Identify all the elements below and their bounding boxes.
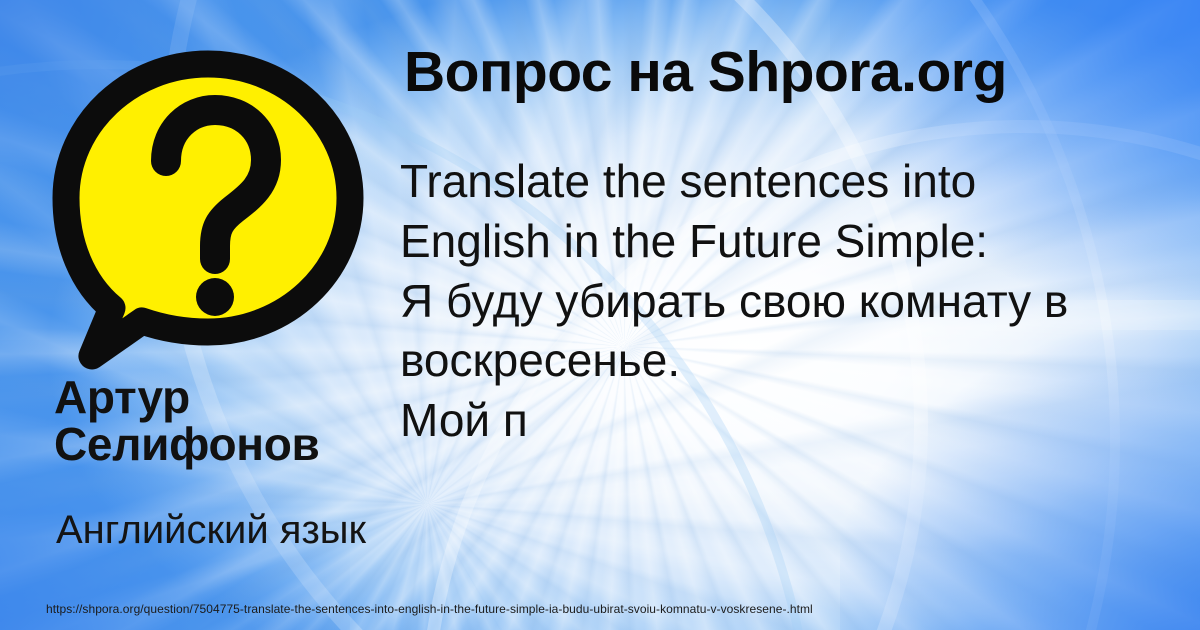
question-line-1: Translate the sentences into xyxy=(400,152,1200,212)
subject-label: Английский язык xyxy=(56,508,366,553)
author-name: Артур Селифонов xyxy=(54,374,424,469)
question-line-4: воскресенье. xyxy=(400,331,1200,391)
question-line-2: English in the Future Simple: xyxy=(400,212,1200,272)
source-url[interactable]: https://shpora.org/question/7504775-tran… xyxy=(46,602,1180,616)
author-first-name: Артур xyxy=(54,374,424,421)
card-content: Вопрос на Shpora.org Translate the sente… xyxy=(0,0,1200,630)
page-title: Вопрос на Shpora.org xyxy=(404,42,1194,102)
shpora-question-preview-card: Вопрос на Shpora.org Translate the sente… xyxy=(0,0,1200,630)
speech-bubble-question-icon xyxy=(52,50,364,370)
question-text: Translate the sentences into English in … xyxy=(400,152,1200,451)
question-line-5: Мой п xyxy=(400,391,1200,451)
question-line-3: Я буду убирать свою комнату в xyxy=(400,272,1200,332)
author-last-name: Селифонов xyxy=(54,421,424,468)
